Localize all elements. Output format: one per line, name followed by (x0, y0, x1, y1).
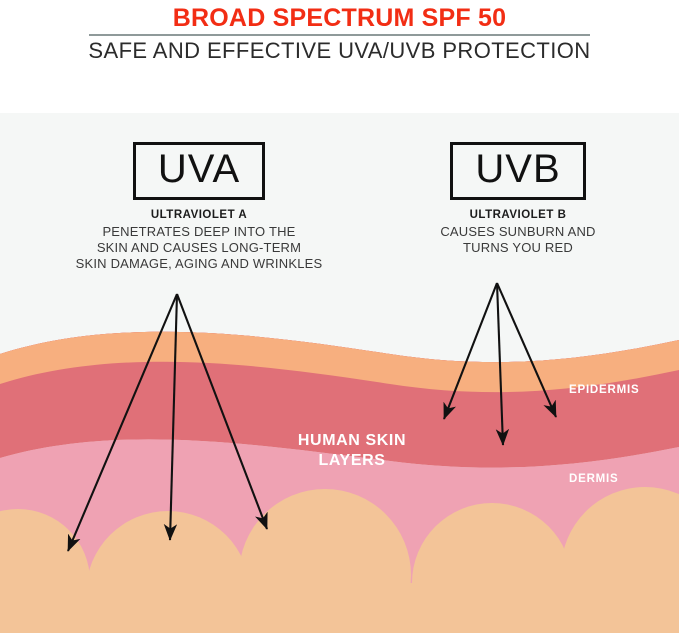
page-title: BROAD SPECTRUM SPF 50 (0, 4, 679, 33)
title-divider (89, 34, 590, 36)
dermis-label: DERMIS (569, 473, 619, 485)
uva-description: PENETRATES DEEP INTO THE SKIN AND CAUSES… (19, 224, 379, 272)
uvb-description-line-2: TURNS YOU RED (358, 240, 678, 256)
human-skin-layers-line-1: HUMAN SKIN (246, 431, 458, 451)
epidermis-label: EPIDERMIS (569, 384, 639, 396)
uva-box: UVA (133, 142, 265, 200)
uvb-description: CAUSES SUNBURN AND TURNS YOU RED (358, 224, 678, 256)
human-skin-layers-label: HUMAN SKIN LAYERS (246, 431, 458, 470)
uvb-box: UVB (450, 142, 585, 200)
sunscreen-infographic: BROAD SPECTRUM SPF 50 SAFE AND EFFECTIVE… (0, 0, 679, 633)
uva-box-label: UVA (158, 147, 240, 191)
page-subtitle: SAFE AND EFFECTIVE UVA/UVB PROTECTION (0, 38, 679, 64)
uva-description-line-2: SKIN AND CAUSES LONG-TERM (19, 240, 379, 256)
header: BROAD SPECTRUM SPF 50 SAFE AND EFFECTIVE… (0, 0, 679, 113)
uva-description-line-3: SKIN DAMAGE, AGING AND WRINKLES (19, 256, 379, 272)
uvb-box-label: UVB (475, 147, 560, 191)
uva-info-block: UVA ULTRAVIOLET A PENETRATES DEEP INTO T… (19, 142, 379, 272)
uva-name: ULTRAVIOLET A (19, 209, 379, 221)
uva-description-line-1: PENETRATES DEEP INTO THE (19, 224, 379, 240)
skin-diagram: UVA ULTRAVIOLET A PENETRATES DEEP INTO T… (0, 113, 679, 633)
uvb-info-block: UVB ULTRAVIOLET B CAUSES SUNBURN AND TUR… (358, 142, 678, 256)
uvb-description-line-1: CAUSES SUNBURN AND (358, 224, 678, 240)
uvb-name: ULTRAVIOLET B (358, 209, 678, 221)
human-skin-layers-line-2: LAYERS (246, 451, 458, 471)
